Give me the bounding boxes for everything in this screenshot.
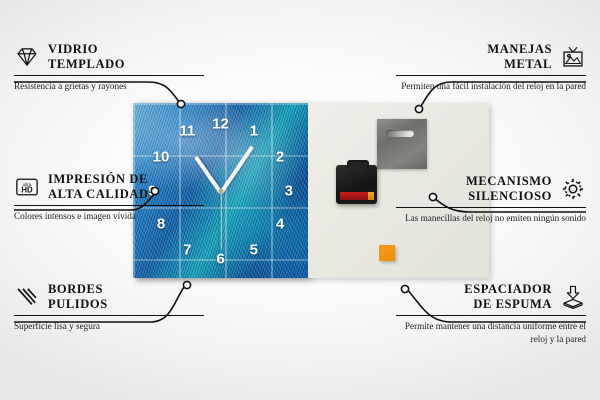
callout-title-line2: SILENCIOSO [466,189,552,204]
callout-description: Las manecillas del reloj no emiten ningú… [396,212,586,225]
clock-numeral-2: 2 [276,150,284,165]
callout-title-line1: VIDRIO [48,42,125,57]
clock-numeral-7: 7 [183,243,191,258]
foam-spacer-pad [379,245,395,261]
gear-icon [560,176,586,202]
callout-rule [396,75,586,76]
battery [340,192,370,200]
callout-header: VIDRIO TEMPLADO [14,42,204,72]
clock-numeral-3: 3 [285,183,293,198]
callout-title-line1: MECANISMO [466,174,552,189]
callout-header: BORDES PULIDOS [14,282,204,312]
callout-title-line2: PULIDOS [48,297,108,312]
clock-numeral-10: 10 [153,150,170,165]
callout-bordes-pulidos: BORDES PULIDOS Superficie lisa y segura [14,282,204,333]
clock-numeral-1: 1 [250,124,258,139]
callout-header: MANEJAS METAL [396,42,586,72]
ultra-hd-icon-large-text: HD [21,185,33,194]
callout-description: Permite mantener una distancia uniforme … [396,320,586,345]
callout-description: Superficie lisa y segura [14,320,204,333]
clock-numeral-5: 5 [250,243,258,258]
callout-title-line2: TEMPLADO [48,57,125,72]
clock-numeral-11: 11 [179,124,195,139]
callout-header: ultra HD IMPRESIÓN DE ALTA CALIDAD [14,172,204,202]
ultra-hd-icon: ultra HD [14,174,40,200]
callout-header: ESPACIADOR DE ESPUMA [396,282,586,312]
callout-impresion-alta-calidad: ultra HD IMPRESIÓN DE ALTA CALIDAD Color… [14,172,204,223]
callout-rule [14,75,204,76]
clock-numeral-12: 12 [212,117,229,132]
callout-manejas-metal: MANEJAS METAL Permiten una fácil instala… [396,42,586,93]
callout-header: MECANISMO SILENCIOSO [396,174,586,204]
callout-rule [14,205,204,206]
callout-title-line1: IMPRESIÓN DE [48,172,149,187]
polished-edges-icon [14,284,40,310]
callout-title-line2: METAL [487,57,552,72]
callout-title-line1: MANEJAS [487,42,552,57]
callout-vidrio-templado: VIDRIO TEMPLADO Resistencia a grietas y … [14,42,204,93]
callout-description: Permiten una fácil instalación del reloj… [396,80,586,93]
picture-frame-icon [560,44,586,70]
callout-title-line2: ALTA CALIDAD [48,187,149,202]
mechanism-hook [347,160,369,169]
metal-hanger-plate [377,119,427,169]
clock-minute-hand [219,145,254,194]
clock-mechanism-box [336,165,377,204]
diamond-icon [14,44,40,70]
callout-title-line1: BORDES [48,282,108,297]
infographic-stage: 12 1 2 3 4 5 6 7 8 9 10 11 [0,0,600,400]
callout-rule [396,207,586,208]
callout-rule [14,315,204,316]
clock-numeral-4: 4 [276,216,284,231]
mechanism-chip [368,192,374,200]
hanger-slot [386,130,414,137]
callout-rule [396,315,586,316]
callout-title-line2: DE ESPUMA [464,297,552,312]
clock-numeral-6: 6 [216,251,224,266]
foam-spacer-icon [560,284,586,310]
callout-title-line1: ESPACIADOR [464,282,552,297]
clock-center-pin [218,188,223,193]
clock-second-hand [220,191,221,249]
callout-espaciador-espuma: ESPACIADOR DE ESPUMA Permite mantener un… [396,282,586,345]
callout-description: Resistencia a grietas y rayones [14,80,204,93]
callout-mecanismo-silencioso: MECANISMO SILENCIOSO Las manecillas del … [396,174,586,225]
callout-description: Colores intensos e imagen vívida [14,210,204,223]
